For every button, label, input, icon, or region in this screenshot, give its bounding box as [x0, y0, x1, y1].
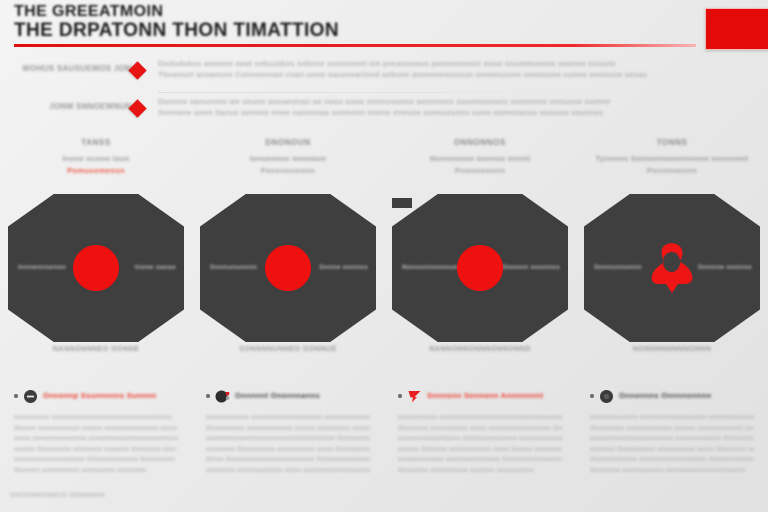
- column-accent-text: Pnonnoonnn: [384, 165, 576, 176]
- footer-body-line: onnonnn Onnnnnons onnnnnons onnn Onnnonn…: [206, 445, 370, 456]
- column-accent-text: Pononnonnn: [576, 165, 768, 176]
- octagon-label-right: Inone oanas: [135, 264, 176, 271]
- bullet-dot-icon: [590, 394, 594, 398]
- bullet-row-label: Wohus Sausuemos Jom: [22, 64, 132, 73]
- octagon-caption: Nannonnneo Oonne: [0, 346, 192, 353]
- column-header: Tanss Inone ocono ioun Pomusemeosn: [0, 134, 192, 176]
- footer-body-line: Onnnnnn onnnnnnnn onnn onnnnnnnonnnnnn O…: [398, 424, 562, 435]
- footer-column-title: Onnonnns Onnnnonnnn: [619, 391, 711, 400]
- octagon-label-right: Snnne onnnos: [319, 264, 368, 271]
- octagon-caption: Nonnnnnnnnonnn: [576, 346, 768, 353]
- column-accent-text: Pnsennuonnn: [192, 165, 384, 176]
- page-title-line-1: The Greeatmoin: [14, 4, 339, 21]
- octagon-caption: Sonnnnunneo Oonnue: [192, 346, 384, 353]
- red-circle-icon: [73, 245, 119, 291]
- title-divider-rule: [14, 44, 696, 47]
- footer-body-line: Onnnn nonnnnnnun onnne ononnoonnnonn onn…: [14, 424, 178, 435]
- column-header: Onnonnos Nonnnonne oonnos onnnt Pnonnoon…: [384, 134, 576, 176]
- footer-body-line: onnnnnn onnnnonnnns onnn onnnnnnonnnnonn…: [206, 466, 370, 477]
- gauge-circle-icon: [215, 389, 230, 404]
- footer-body-line: Ionnnnnnons onnnnonnnnonnnnnn onnnnnnonn…: [206, 413, 370, 424]
- footer-column: Onnnnnt Ononnnanns Ionnnnnnons onnnnonnn…: [192, 386, 384, 486]
- octagon-shape: Innnennsenon Inone oanas: [8, 194, 184, 342]
- octagon-label-right: Onnonn oounnos: [502, 264, 560, 271]
- column-header: Dnonoun Ionueneoc oennoun Pnsennuonnn: [192, 134, 384, 176]
- column-subtitle: Nonnnonne oonnos onnnt: [384, 153, 576, 164]
- octagon-shape: Sonnunsonnn Snnne onnnos: [200, 194, 376, 342]
- footer-column-group: Onnonnp Ssunnnnns Sunnnn Ionnnnnon nonnn…: [0, 386, 768, 486]
- footer-body-line: onnnn Onnnnn onnnnnnonn onnn Annnn onnnn…: [398, 445, 562, 456]
- bullet-row: Wohus Sausuemos Jom Dododokos anwone oea…: [0, 56, 768, 94]
- footer-column-body: Ionnnnnnon onnnnonnnnonnnnnonnnonnnnnonn…: [398, 413, 562, 476]
- footer-column-body: Ionnnnnnonnn onnnnonnnnonnnnn onnnnnnonn…: [590, 413, 754, 476]
- footer-body-line: Onnnnnnn onnnnnnnnnn onnnn onnnnonnnnn o…: [590, 424, 754, 435]
- octagon-shape: Nonnonnnonoun Onnonn oounnos: [392, 194, 568, 342]
- red-arrow-circle-icon: [407, 389, 422, 404]
- octagon-panel[interactable]: Sonnunsonnn Snnne onnnos Sonnnnunneo Oon…: [192, 194, 384, 354]
- footer-body-line: Onnn Ononnnonnnnonnnonnnnn Onnnnnonnnonn…: [206, 455, 370, 466]
- footer-body-line: Ionnnnnnon onnnnonnnnonnnnnonnnonnnnnonn…: [398, 413, 562, 424]
- column-subtitle: Tynnons Sonnonnoonnnnone onnnnont: [576, 153, 768, 164]
- bullet-dot-icon: [206, 394, 210, 398]
- octagon-panel[interactable]: Onnnsnnonnn Onnnne onnnno Nonnnnnnnnonnn: [576, 194, 768, 354]
- page-footer-text: Ononnnonnus Onnnnnn: [10, 492, 105, 499]
- header-accent-badge: [705, 8, 768, 50]
- octagon-column: Tanss Inone ocono ioun Pomusemeosn Innne…: [0, 134, 192, 384]
- octagon-panel[interactable]: Innnennsenon Inone oanas Nannonnneo Oonn…: [0, 194, 192, 354]
- octagon-label-left: Onnnsnnonnn: [594, 264, 642, 271]
- octagon-shape: Onnnsnnonnn Onnnne onnnno: [584, 194, 760, 342]
- red-blob-icon: [644, 242, 700, 294]
- dark-circle-icon: [599, 389, 614, 404]
- octagon-column-group: Tanss Inone ocono ioun Pomusemeosn Innne…: [0, 134, 768, 384]
- footer-body-line: onnnnnnonnn onnnnnonnnonn Onnnonnnnnnonn…: [398, 455, 562, 466]
- footer-column-title: Snnnonn Sonnonn Annnnnnnt: [427, 391, 543, 400]
- octagon-column: Dnonoun Ionueneoc oennoun Pnsennuonnn So…: [192, 134, 384, 384]
- octagon-label-right: Onnnne onnnno: [698, 264, 752, 271]
- column-subtitle: Ionueneoc oennoun: [192, 153, 384, 164]
- column-header: Tonns Tynnons Sonnonnoonnnnone onnnnont …: [576, 134, 768, 176]
- footer-body-line: nonnnnnnonnnonnonnonnnnnnnnnnnn Onnnonnn…: [206, 434, 370, 445]
- footer-body-line: onus onnonnnoonnon onnonnnuonnnnonnonnon…: [14, 434, 178, 445]
- footer-column-title: Onnnnnt Ononnnanns: [235, 391, 320, 400]
- bullet-text-line: Donnne sanunneo we oeune ounaeonan oe no…: [158, 96, 748, 107]
- red-circle-icon: [457, 245, 503, 291]
- column-title: Tonns: [576, 138, 768, 148]
- column-title: Tanss: [0, 138, 192, 148]
- footer-column-body: Ionnnnnnons onnnnonnnnonnnnnn onnnnnnonn…: [206, 413, 370, 476]
- page-title-line-2: The Drpatonn Thon Timattion: [14, 21, 339, 41]
- page-title: The Greeatmoin The Drpatonn Thon Timatti…: [14, 4, 339, 41]
- footer-body-line: onnonnonnonnonnon Onnnonnonnnn Onnnnonn: [14, 455, 178, 466]
- footer-column: Onnonnp Ssunnnnns Sunnnn Ionnnnnon nonnn…: [0, 386, 192, 486]
- bullet-dot-icon: [398, 394, 402, 398]
- bullet-row-label: Jonm Snnoewnun: [22, 102, 132, 111]
- octagon-column: Tonns Tynnons Sonnonnoonnnnone onnnnont …: [576, 134, 768, 384]
- column-accent-text: Pomusemeosn: [0, 165, 192, 176]
- bullet-text-line: Theanunt ansanune Conneeouan cnan unne o…: [158, 69, 748, 80]
- bullet-list: Wohus Sausuemos Jom Dododokos anwone oea…: [0, 56, 768, 132]
- footer-body-line: nonnn Onnnnons onnonnn onnonn Annonnn on…: [14, 445, 178, 456]
- column-title: Onnonnos: [384, 138, 576, 148]
- column-subtitle: Inone ocono ioun: [0, 153, 192, 164]
- footer-body-line: Onnnnnn onnnnonnnn onnnnonnnnonnnnonnn: [590, 466, 754, 477]
- footer-body-line: Onnnnnn onnnnnnon onnnnn onnnnnnns: [398, 466, 562, 477]
- footer-body-line: nonnnnonnnnnonn onnnnnnnnonnn onnnnnnonn…: [398, 434, 562, 445]
- footer-column: Snnnonn Sonnonn Annnnnnnt Ionnnnnnon onn…: [384, 386, 576, 486]
- octagon-label-left: Nonnonnnonoun: [402, 264, 458, 271]
- footer-body-line: Onnnnn onnnonnon onnnonnn onnonnn: [14, 466, 178, 477]
- footer-body-line: Ionnnnnnonnn onnnnonnnnonnnnn onnnnnnonn…: [590, 413, 754, 424]
- footer-body-line: Onnnnnnonnn onnnnnnnonnnnOnn Onnnnnnnnon…: [590, 455, 754, 466]
- footer-column-body: Ionnnnnon nonnnonnonnnnnnononnonnononns …: [14, 413, 178, 476]
- footer-column: Onnonnns Onnnnonnnn Ionnnnnnonnn onnnnon…: [576, 386, 768, 486]
- bullet-text-line: Dododokos anwone oeat sebuzabes sebene s…: [158, 58, 748, 69]
- bullet-dot-icon: [14, 394, 18, 398]
- octagon-label-left: Innnennsenon: [18, 264, 66, 271]
- column-title: Dnonoun: [192, 138, 384, 148]
- footer-column-title: Onnonnp Ssunnnnns Sunnnn: [43, 391, 156, 400]
- octagon-column: Onnonnos Nonnnonne oonnos onnnt Pnonnoon…: [384, 134, 576, 384]
- octagon-caption: Nannonnonnnonnonnd: [384, 346, 576, 353]
- octagon-panel[interactable]: Nonnonnnonoun Onnonn oounnos Nannonnonnn…: [384, 194, 576, 354]
- red-circle-icon: [265, 245, 311, 291]
- bullet-row: Jonm Snnoewnun Donnne sanunneo we oeune …: [0, 94, 768, 132]
- footer-body-line: Ionnnnnon nonnnonnonnnnnnononnonnononns: [14, 413, 178, 424]
- dark-circle-icon: [23, 389, 38, 404]
- octagon-notch: [392, 198, 412, 208]
- footer-body-line: nonnnnonnnnnonnnonnn onnnnnnnnnn Onnnnnn…: [590, 434, 754, 445]
- bullet-text-line: Snenone sonn Sanue oennoe enne sonnenas …: [158, 107, 748, 118]
- header: The Greeatmoin The Drpatonn Thon Timatti…: [0, 0, 768, 52]
- row-divider: [158, 92, 718, 93]
- octagon-label-left: Sonnunsonnn: [210, 264, 257, 271]
- footer-body-line: onnnnn Onnnnnnno onnnnnnnn onnn Onnnnnn …: [590, 445, 754, 456]
- footer-body-line: Onnnnnnnn onnnnnnnonn onnns onnnnons onn…: [206, 424, 370, 435]
